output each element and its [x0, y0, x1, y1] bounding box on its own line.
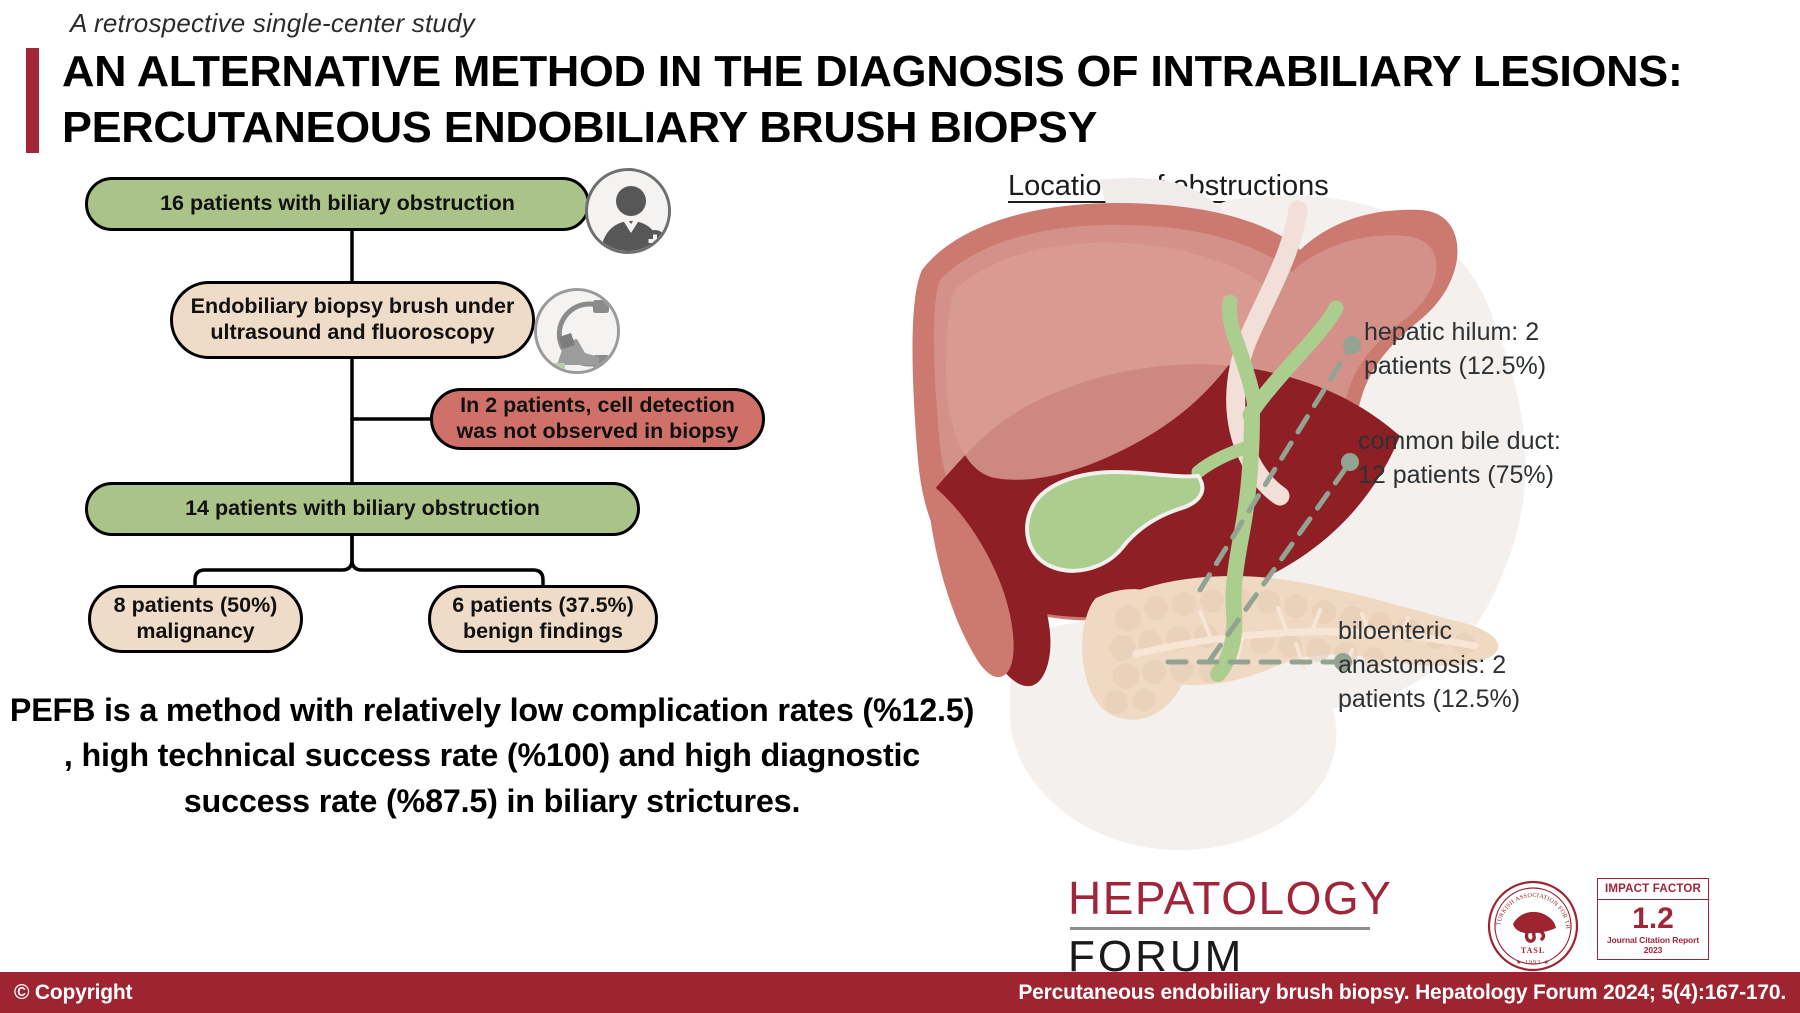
flow-node-label: 8 patients (50%) malignancy: [105, 593, 286, 645]
flow-node-benign: 6 patients (37.5%) benign findings: [428, 585, 658, 653]
anatomy-illustration-panel: Locations of obstructions: [900, 160, 1800, 860]
flow-node-label: 16 patients with biliary obstruction: [160, 191, 515, 217]
copyright-text: © Copyright: [14, 981, 132, 1005]
study-type-eyebrow: A retrospective single-center study: [70, 8, 475, 39]
flow-node-malignancy: 8 patients (50%) malignancy: [88, 585, 303, 653]
flow-node-label: 6 patients (37.5%) benign findings: [445, 593, 641, 645]
conclusion-statement: PEFB is a method with relatively low com…: [7, 688, 977, 824]
flow-node-procedure: Endobiliary biopsy brush under ultrasoun…: [170, 281, 535, 359]
page-title: AN ALTERNATIVE METHOD IN THE DIAGNOSIS O…: [62, 44, 1796, 156]
journal-logo-divider: [1070, 927, 1370, 930]
callout-hepatic-hilum: hepatic hilum: 2 patients (12.5%): [1364, 316, 1564, 384]
c-arm-fluoroscopy-icon: [534, 288, 620, 374]
study-flowchart: 16 patients with biliary obstruction End…: [0, 160, 900, 680]
title-accent-rule: [26, 48, 39, 153]
impact-factor-caption: Journal Citation Report 2023: [1598, 935, 1708, 955]
citation-text: Percutaneous endobiliary brush biopsy. H…: [1018, 981, 1786, 1005]
patient-avatar-icon: [585, 168, 671, 254]
flow-node-failure: In 2 patients, cell detection was not ob…: [430, 388, 765, 450]
callout-common-bile-duct: common bile duct: 12 patients (75%): [1358, 425, 1568, 493]
journal-logo-line1: HEPATOLOGY: [1068, 875, 1468, 921]
impact-factor-body: 1.2 Journal Citation Report 2023: [1597, 900, 1709, 960]
flow-node-label: Endobiliary biopsy brush under ultrasoun…: [187, 294, 518, 346]
callout-bilioenteric-anastomosis: biloenteric anastomosis: 2 patients (12.…: [1338, 615, 1548, 716]
impact-factor-title: IMPACT FACTOR: [1597, 878, 1709, 900]
flow-node-final-cohort: 14 patients with biliary obstruction: [85, 482, 640, 536]
flow-node-initial-cohort: 16 patients with biliary obstruction: [85, 177, 590, 231]
svg-text:★ 1993 ★: ★ 1993 ★: [1516, 959, 1550, 966]
page-header: A retrospective single-center study AN A…: [0, 0, 1800, 178]
tasl-seal-icon: TURKISH ASSOCIATION FOR THE STUDY OF THE…: [1487, 880, 1579, 972]
flow-node-label: In 2 patients, cell detection was not ob…: [447, 393, 748, 445]
journal-logo: HEPATOLOGY FORUM: [1068, 875, 1468, 970]
impact-factor-badge: IMPACT FACTOR 1.2 Journal Citation Repor…: [1597, 878, 1709, 960]
liver-biliary-anatomy-diagram: [900, 160, 1800, 860]
page-footer: © Copyright Percutaneous endobiliary bru…: [0, 972, 1800, 1013]
impact-factor-value: 1.2: [1598, 903, 1708, 935]
flow-node-label: 14 patients with biliary obstruction: [185, 496, 540, 522]
svg-text:TASL: TASL: [1521, 946, 1545, 955]
